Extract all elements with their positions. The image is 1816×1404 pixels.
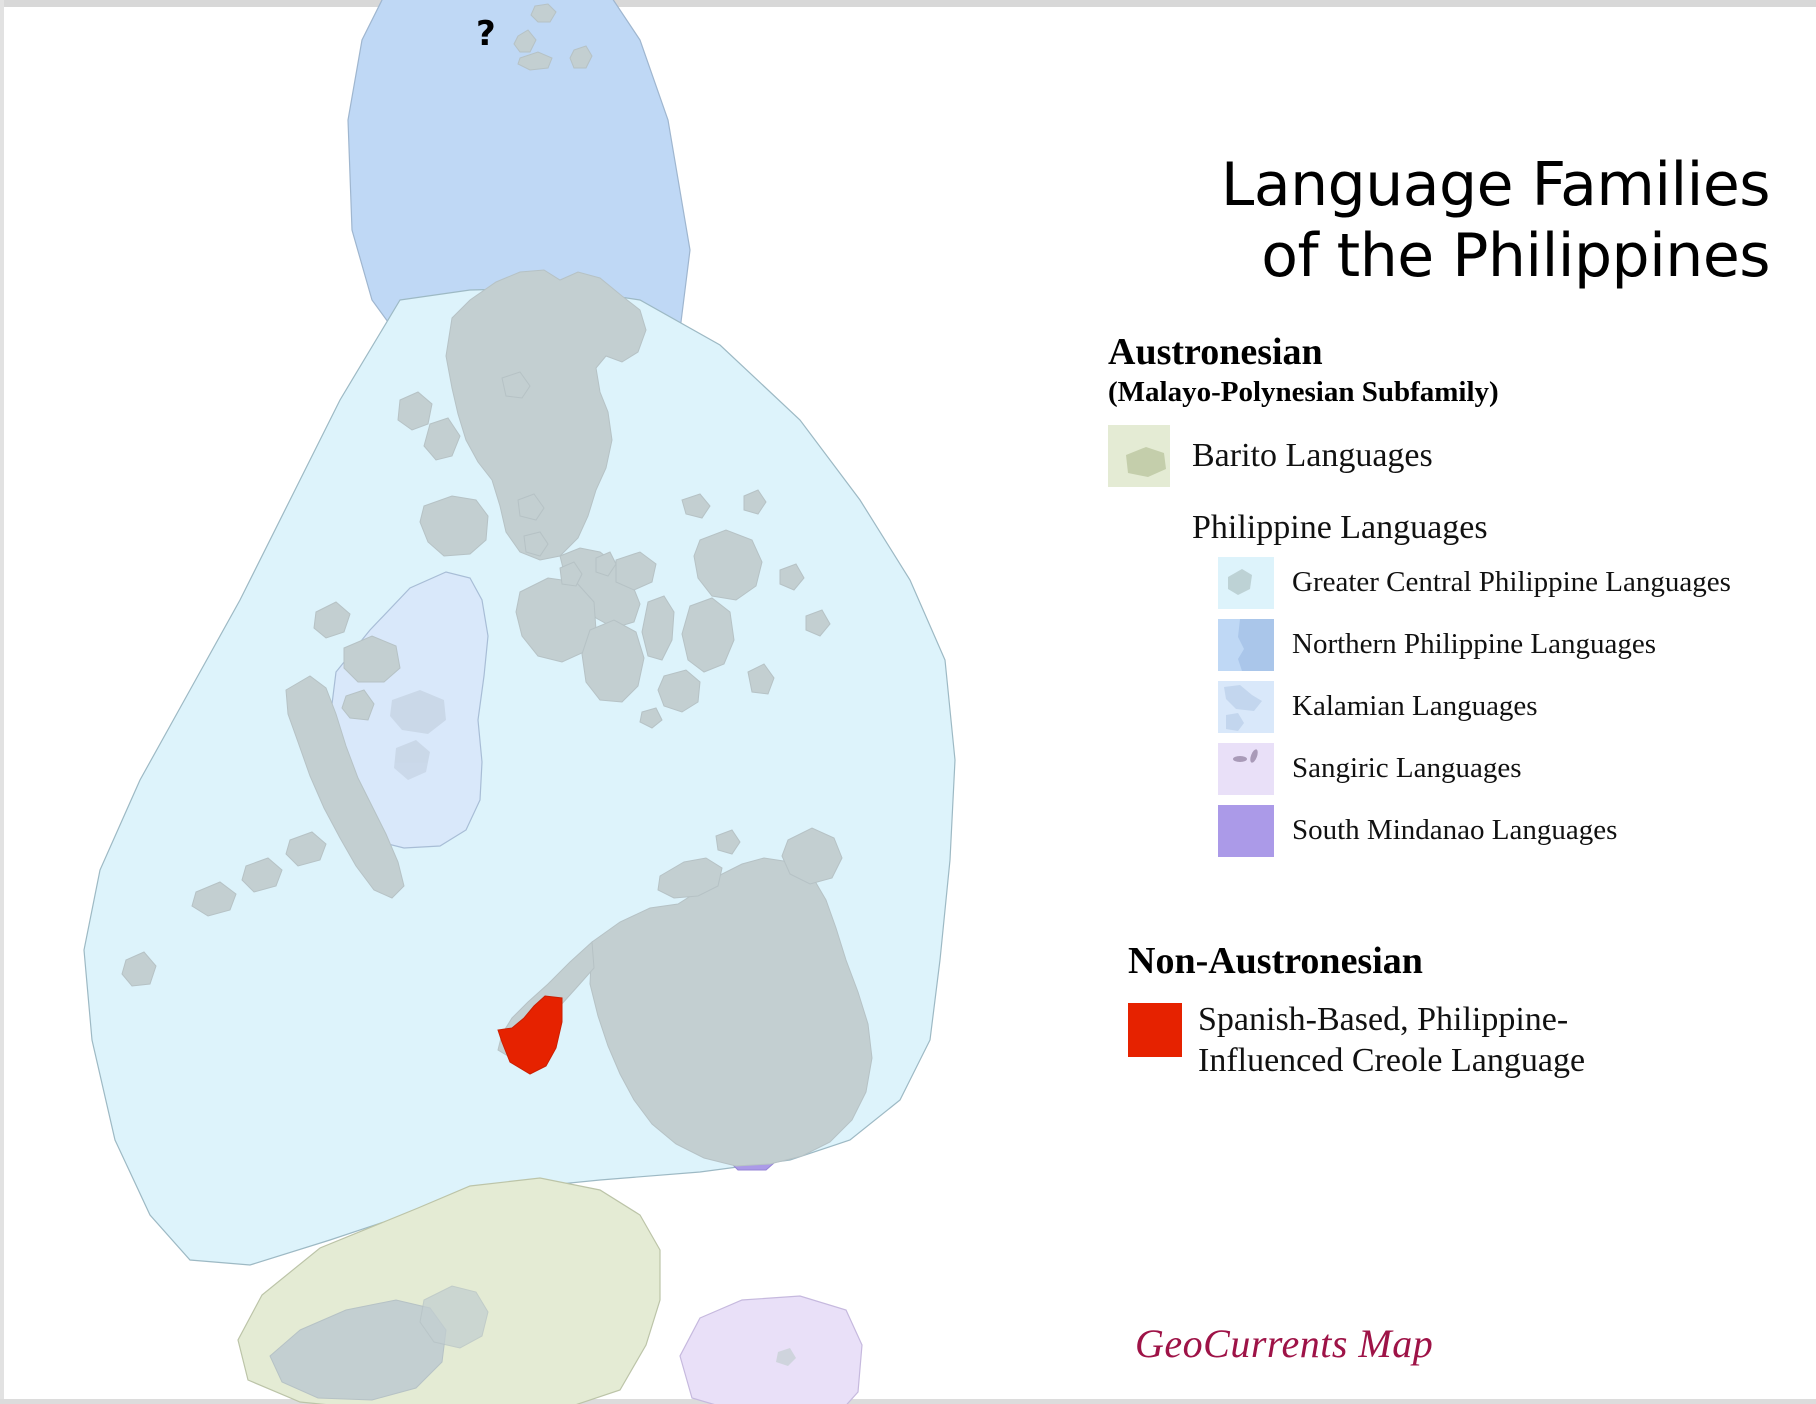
legend-item-creole[interactable]: Spanish-Based, Philippine- Influenced Cr… — [1128, 999, 1810, 1082]
legend-label-creole-line1: Spanish-Based, Philippine- — [1198, 999, 1585, 1040]
swatch-sangiric-icon — [1218, 743, 1274, 795]
legend-item-northern-philippine[interactable]: Northern Philippine Languages — [1218, 619, 1810, 671]
legend-label-sangiric: Sangiric Languages — [1274, 752, 1522, 785]
map-page: ? Language Families of the Philippines A… — [0, 0, 1816, 1404]
legend-item-south-mindanao[interactable]: South Mindanao Languages — [1218, 805, 1810, 857]
swatch-barito-icon — [1108, 425, 1170, 487]
swatch-kalamian-icon — [1218, 681, 1274, 733]
legend-label-greater-central-philippine: Greater Central Philippine Languages — [1274, 566, 1731, 599]
legend-label-kalamian: Kalamian Languages — [1274, 690, 1538, 723]
swatch-south-mindanao-icon — [1218, 805, 1274, 857]
legend-item-barito[interactable]: Barito Languages — [1108, 425, 1810, 487]
legend-item-philippine-languages[interactable]: Philippine Languages — [1108, 509, 1810, 547]
swatch-greater-central-icon — [1218, 557, 1274, 609]
legend-panel: Language Families of the Philippines Aus… — [1090, 150, 1810, 1390]
page-title: Language Families of the Philippines — [1090, 150, 1810, 292]
swatch-northern-philippine-icon — [1218, 619, 1274, 671]
title-line-2: of the Philippines — [1090, 221, 1770, 292]
legend-label-philippine-languages: Philippine Languages — [1108, 509, 1488, 547]
legend-label-barito: Barito Languages — [1170, 437, 1433, 475]
map-credit: GeoCurrents Map — [1135, 1320, 1433, 1367]
legend-label-creole: Spanish-Based, Philippine- Influenced Cr… — [1182, 999, 1585, 1082]
legend-subheading-malayo-polynesian: (Malayo-Polynesian Subfamily) — [1108, 376, 1810, 409]
legend-label-northern-philippine: Northern Philippine Languages — [1274, 628, 1656, 661]
swatch-creole-icon — [1128, 1003, 1182, 1057]
region-sangiric — [680, 1296, 862, 1404]
legend-label-south-mindanao: South Mindanao Languages — [1274, 814, 1617, 847]
legend-heading-austronesian: Austronesian — [1108, 330, 1810, 374]
legend-item-kalamian[interactable]: Kalamian Languages — [1218, 681, 1810, 733]
legend-item-sangiric[interactable]: Sangiric Languages — [1218, 743, 1810, 795]
title-line-1: Language Families — [1090, 150, 1770, 221]
legend-item-greater-central-philippine[interactable]: Greater Central Philippine Languages — [1218, 557, 1810, 609]
legend-heading-non-austronesian: Non-Austronesian — [1128, 939, 1810, 983]
unknown-region-marker: ? — [476, 14, 496, 54]
legend-label-creole-line2: Influenced Creole Language — [1198, 1040, 1585, 1081]
philippines-language-map — [0, 0, 1120, 1404]
